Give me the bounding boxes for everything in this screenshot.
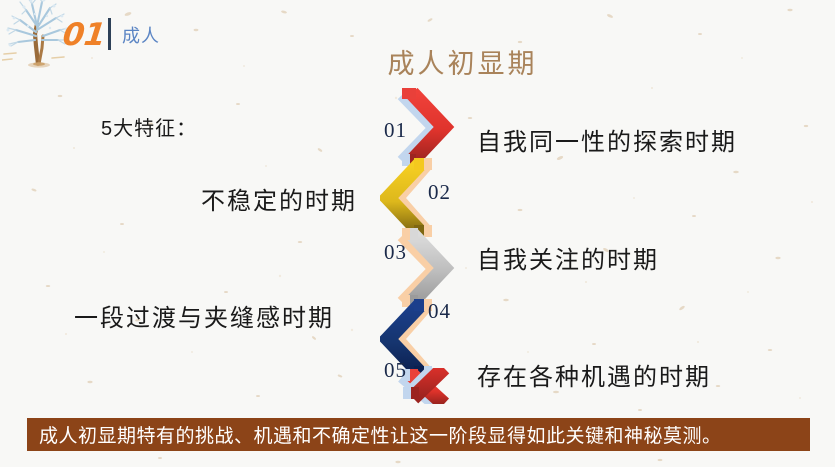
step-number-04: 04 bbox=[428, 299, 451, 324]
page-title: 成人初显期 bbox=[0, 42, 835, 81]
step-number-02: 02 bbox=[428, 180, 451, 205]
chevron-connector-01-02 bbox=[402, 154, 410, 166]
step-number-03: 03 bbox=[384, 240, 407, 265]
slide-canvas: 01 成人 成人初显期 5大特征： bbox=[0, 0, 835, 467]
chevron-step-02 bbox=[388, 158, 432, 237]
step-label-04: 一段过渡与夹缝感时期 bbox=[74, 298, 334, 333]
page-title-text: 成人初显期 bbox=[298, 49, 538, 79]
step-number-01: 01 bbox=[384, 118, 407, 143]
step-number-05: 05 bbox=[384, 358, 407, 383]
step-label-01: 自我同一性的探索时期 bbox=[477, 122, 737, 157]
step-label-03: 自我关注的时期 bbox=[477, 240, 659, 275]
step-label-05: 存在各种机遇的时期 bbox=[477, 357, 711, 392]
summary-banner-text: 成人初显期特有的挑战、机遇和不确定性让这一阶段显得如此关键和神秘莫测。 bbox=[39, 421, 722, 448]
step-label-02: 不稳定的时期 bbox=[201, 181, 357, 216]
features-heading: 5大特征： bbox=[101, 112, 197, 141]
summary-banner: 成人初显期特有的挑战、机遇和不确定性让这一阶段显得如此关键和神秘莫测。 bbox=[27, 418, 810, 451]
chevron-step-03 bbox=[402, 228, 444, 307]
